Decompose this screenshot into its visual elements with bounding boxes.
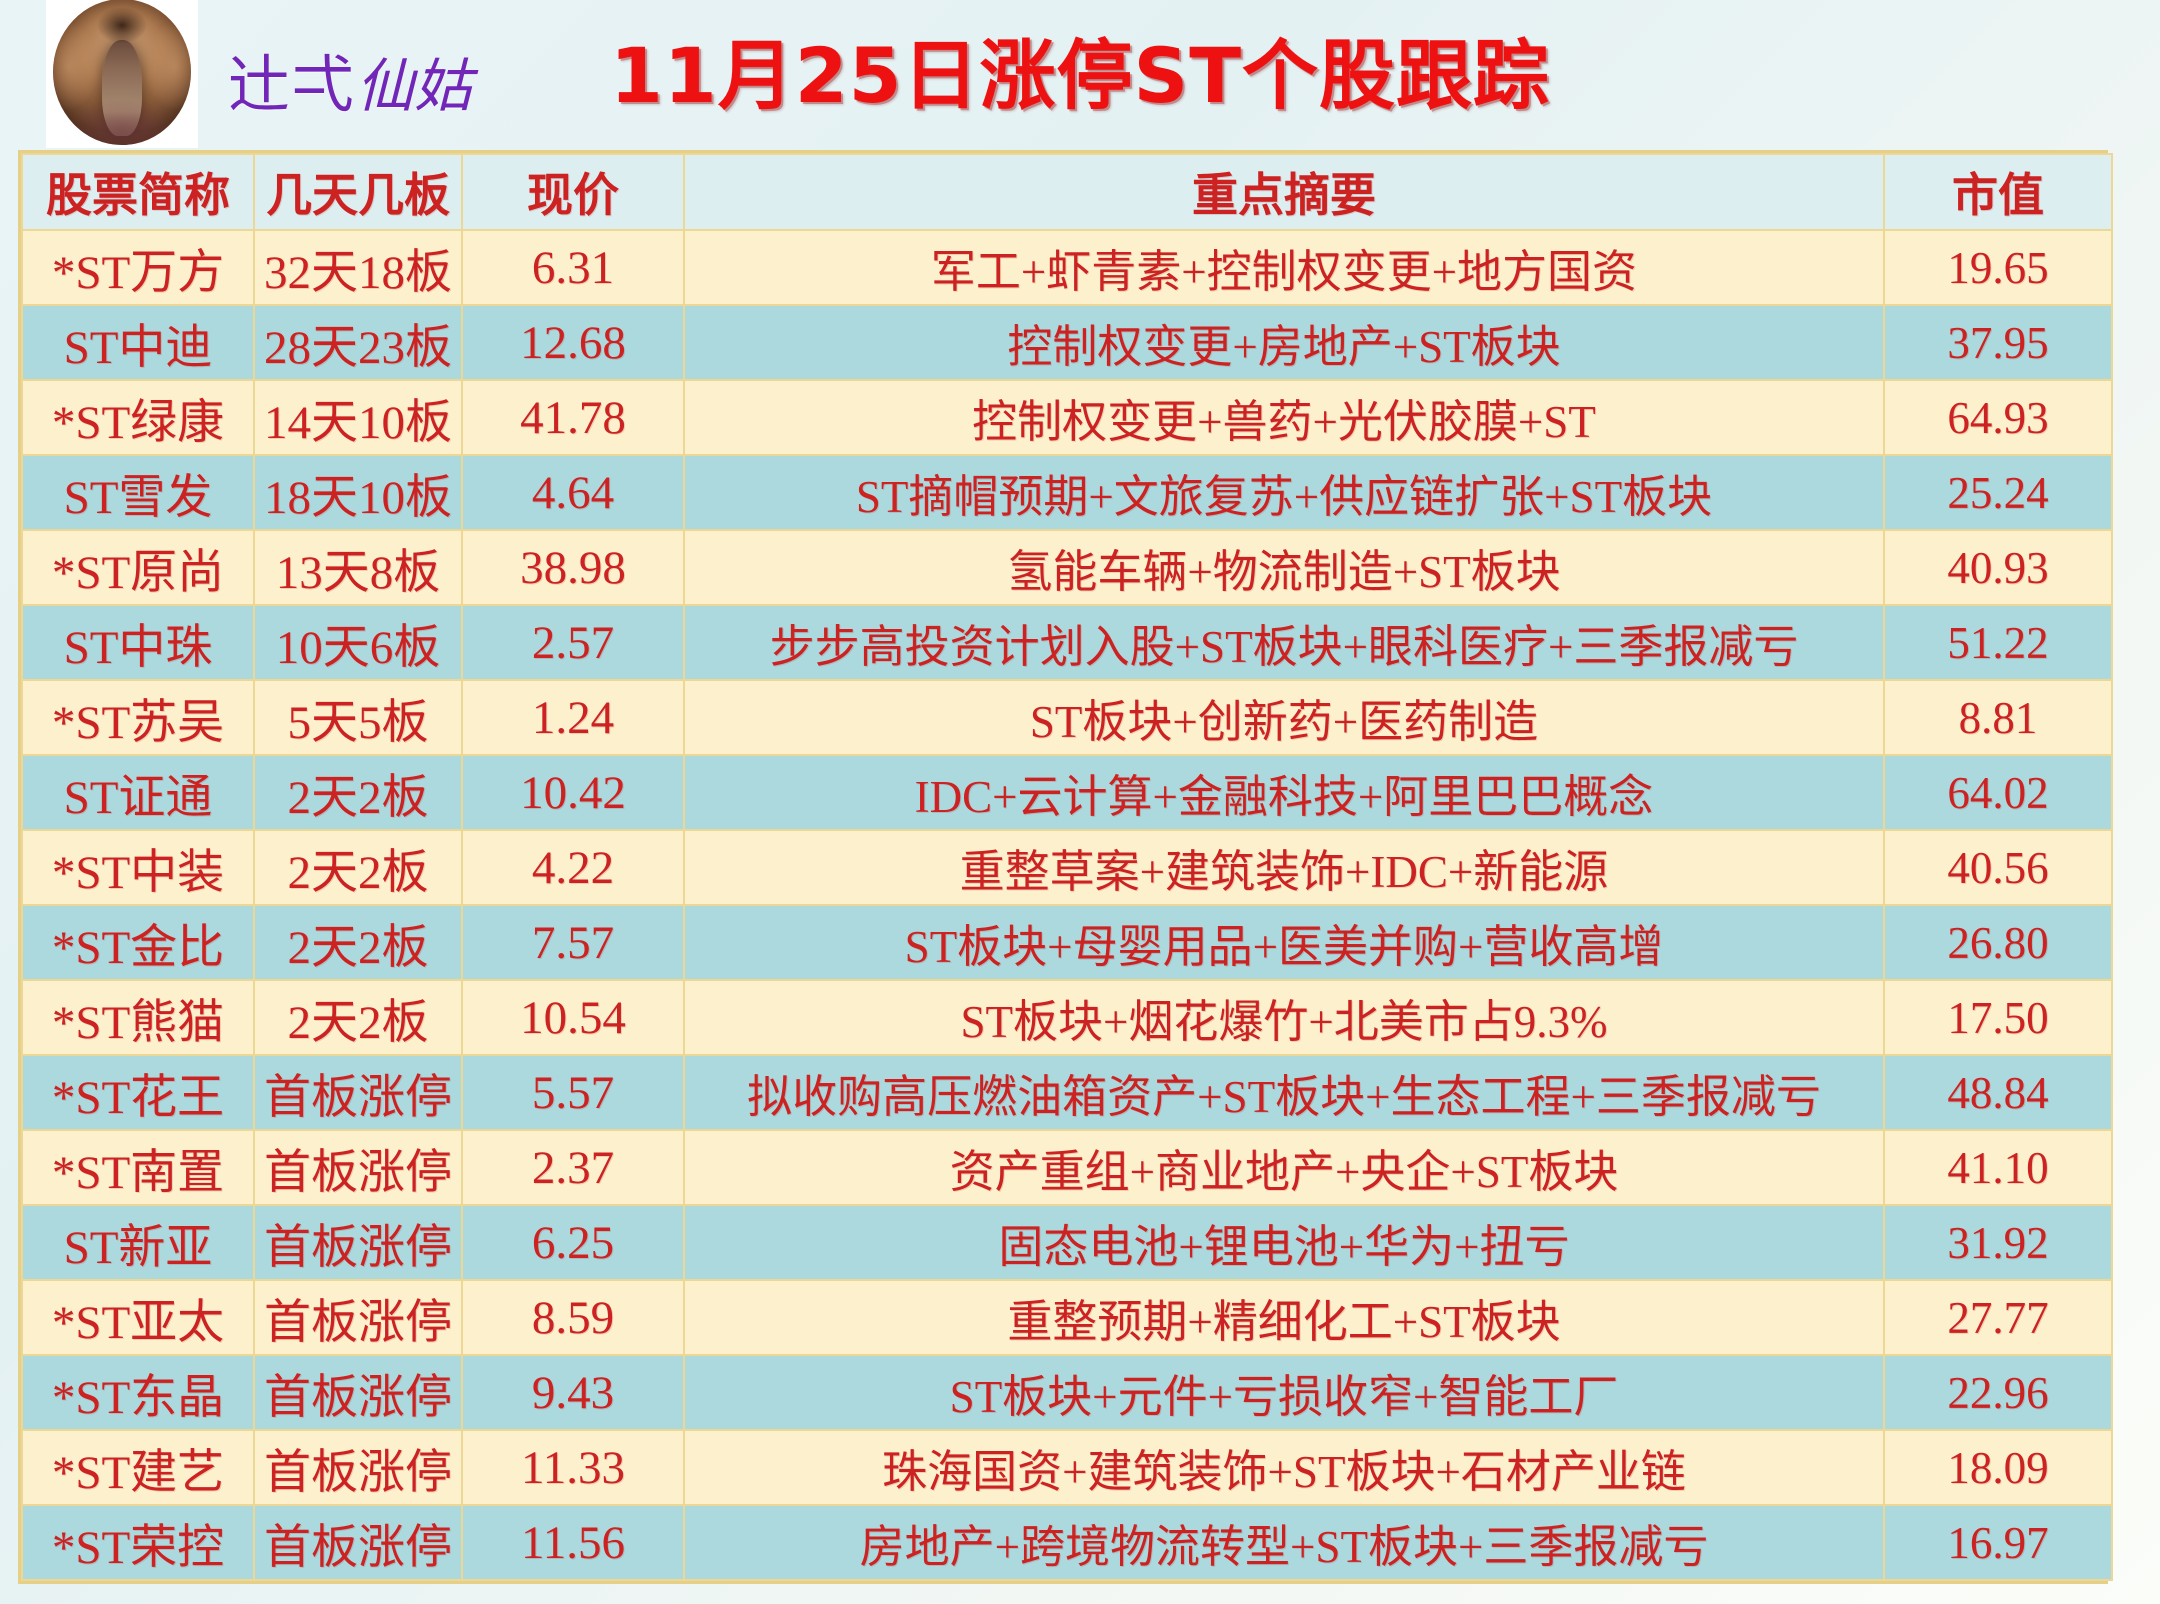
table-row: *ST荣控首板涨停11.56房地产+跨境物流转型+ST板块+三季报减亏16.97: [22, 1505, 2112, 1580]
cell-summary: 重整预期+精细化工+ST板块: [684, 1280, 1884, 1355]
stock-table-container: 股票简称 几天几板 现价 重点摘要 市值 *ST万方32天18板6.31军工+虾…: [18, 150, 2108, 1584]
table-row: *ST原尚13天8板38.98氢能车辆+物流制造+ST板块40.93: [22, 530, 2112, 605]
cell-current-price: 6.25: [462, 1205, 684, 1280]
cell-market-cap: 16.97: [1884, 1505, 2112, 1580]
cell-stock-name: *ST绿康: [22, 380, 254, 455]
cell-boards: 5天5板: [254, 680, 462, 755]
cell-summary: ST摘帽预期+文旅复苏+供应链扩张+ST板块: [684, 455, 1884, 530]
cell-boards: 首板涨停: [254, 1130, 462, 1205]
table-row: *ST绿康14天10板41.78控制权变更+兽药+光伏胶膜+ST64.93: [22, 380, 2112, 455]
cell-boards: 2天2板: [254, 905, 462, 980]
cell-market-cap: 41.10: [1884, 1130, 2112, 1205]
table-row: ST中迪28天23板12.68控制权变更+房地产+ST板块37.95: [22, 305, 2112, 380]
cell-stock-name: *ST熊猫: [22, 980, 254, 1055]
cell-summary: IDC+云计算+金融科技+阿里巴巴概念: [684, 755, 1884, 830]
cell-boards: 14天10板: [254, 380, 462, 455]
cell-stock-name: *ST荣控: [22, 1505, 254, 1580]
cell-boards: 13天8板: [254, 530, 462, 605]
table-row: ST新亚首板涨停6.25固态电池+锂电池+华为+扭亏31.92: [22, 1205, 2112, 1280]
cell-summary: 军工+虾青素+控制权变更+地方国资: [684, 230, 1884, 305]
cell-market-cap: 31.92: [1884, 1205, 2112, 1280]
cell-stock-name: *ST万方: [22, 230, 254, 305]
cell-market-cap: 8.81: [1884, 680, 2112, 755]
cell-boards: 28天23板: [254, 305, 462, 380]
cell-summary: 珠海国资+建筑装饰+ST板块+石材产业链: [684, 1430, 1884, 1505]
cell-boards: 2天2板: [254, 755, 462, 830]
table-header: 股票简称 几天几板 现价 重点摘要 市值: [22, 154, 2112, 230]
cell-market-cap: 27.77: [1884, 1280, 2112, 1355]
cell-summary: 房地产+跨境物流转型+ST板块+三季报减亏: [684, 1505, 1884, 1580]
table-row: *ST熊猫2天2板10.54ST板块+烟花爆竹+北美市占9.3%17.50: [22, 980, 2112, 1055]
cell-stock-name: *ST苏吴: [22, 680, 254, 755]
cell-market-cap: 64.93: [1884, 380, 2112, 455]
page-root: 辻弌仙姑 11月25日涨停ST个股跟踪 股票简称 几天几板 现价 重点摘要 市值…: [0, 0, 2160, 1604]
cell-current-price: 1.24: [462, 680, 684, 755]
cell-stock-name: *ST亚太: [22, 1280, 254, 1355]
cell-market-cap: 40.56: [1884, 830, 2112, 905]
cell-summary: ST板块+烟花爆竹+北美市占9.3%: [684, 980, 1884, 1055]
cell-stock-name: ST证通: [22, 755, 254, 830]
cell-current-price: 12.68: [462, 305, 684, 380]
cell-summary: 资产重组+商业地产+央企+ST板块: [684, 1130, 1884, 1205]
table-row: *ST亚太首板涨停8.59重整预期+精细化工+ST板块27.77: [22, 1280, 2112, 1355]
cell-current-price: 4.22: [462, 830, 684, 905]
cell-stock-name: *ST原尚: [22, 530, 254, 605]
stock-table: 股票简称 几天几板 现价 重点摘要 市值 *ST万方32天18板6.31军工+虾…: [21, 153, 2113, 1581]
cell-current-price: 4.64: [462, 455, 684, 530]
cell-current-price: 5.57: [462, 1055, 684, 1130]
cell-market-cap: 37.95: [1884, 305, 2112, 380]
cell-boards: 32天18板: [254, 230, 462, 305]
table-row: *ST南置首板涨停2.37资产重组+商业地产+央企+ST板块41.10: [22, 1130, 2112, 1205]
cell-stock-name: ST雪发: [22, 455, 254, 530]
cell-market-cap: 19.65: [1884, 230, 2112, 305]
cell-summary: 步步高投资计划入股+ST板块+眼科医疗+三季报减亏: [684, 605, 1884, 680]
cell-stock-name: *ST南置: [22, 1130, 254, 1205]
cell-current-price: 6.31: [462, 230, 684, 305]
cell-market-cap: 64.02: [1884, 755, 2112, 830]
table-row: ST中珠10天6板2.57步步高投资计划入股+ST板块+眼科医疗+三季报减亏51…: [22, 605, 2112, 680]
cell-summary: ST板块+元件+亏损收窄+智能工厂: [684, 1355, 1884, 1430]
cell-market-cap: 22.96: [1884, 1355, 2112, 1430]
cell-boards: 首板涨停: [254, 1355, 462, 1430]
cell-summary: 氢能车辆+物流制造+ST板块: [684, 530, 1884, 605]
table-header-row: 股票简称 几天几板 现价 重点摘要 市值: [22, 154, 2112, 230]
column-header-summary: 重点摘要: [684, 154, 1884, 230]
cell-market-cap: 18.09: [1884, 1430, 2112, 1505]
cell-summary: 拟收购高压燃油箱资产+ST板块+生态工程+三季报减亏: [684, 1055, 1884, 1130]
cell-boards: 首板涨停: [254, 1505, 462, 1580]
column-header-price: 现价: [462, 154, 684, 230]
cell-stock-name: ST中迪: [22, 305, 254, 380]
cell-market-cap: 51.22: [1884, 605, 2112, 680]
column-header-cap: 市值: [1884, 154, 2112, 230]
cell-boards: 10天6板: [254, 605, 462, 680]
cell-stock-name: *ST东晶: [22, 1355, 254, 1430]
column-header-name: 股票简称: [22, 154, 254, 230]
cell-market-cap: 48.84: [1884, 1055, 2112, 1130]
table-body: *ST万方32天18板6.31军工+虾青素+控制权变更+地方国资19.65ST中…: [22, 230, 2112, 1580]
cell-market-cap: 25.24: [1884, 455, 2112, 530]
cell-summary: 重整草案+建筑装饰+IDC+新能源: [684, 830, 1884, 905]
cell-current-price: 10.42: [462, 755, 684, 830]
cell-boards: 18天10板: [254, 455, 462, 530]
table-row: *ST万方32天18板6.31军工+虾青素+控制权变更+地方国资19.65: [22, 230, 2112, 305]
cell-current-price: 7.57: [462, 905, 684, 980]
cell-summary: 控制权变更+房地产+ST板块: [684, 305, 1884, 380]
cell-stock-name: *ST中装: [22, 830, 254, 905]
cell-current-price: 38.98: [462, 530, 684, 605]
cell-market-cap: 40.93: [1884, 530, 2112, 605]
table-row: *ST中装2天2板4.22重整草案+建筑装饰+IDC+新能源40.56: [22, 830, 2112, 905]
cell-market-cap: 17.50: [1884, 980, 2112, 1055]
cell-stock-name: ST中珠: [22, 605, 254, 680]
cell-current-price: 11.33: [462, 1430, 684, 1505]
cell-stock-name: *ST花王: [22, 1055, 254, 1130]
cell-current-price: 10.54: [462, 980, 684, 1055]
table-row: ST证通2天2板10.42IDC+云计算+金融科技+阿里巴巴概念64.02: [22, 755, 2112, 830]
table-row: *ST花王首板涨停5.57拟收购高压燃油箱资产+ST板块+生态工程+三季报减亏4…: [22, 1055, 2112, 1130]
column-header-boards: 几天几板: [254, 154, 462, 230]
cell-boards: 2天2板: [254, 980, 462, 1055]
cell-summary: 控制权变更+兽药+光伏胶膜+ST: [684, 380, 1884, 455]
cell-current-price: 2.37: [462, 1130, 684, 1205]
table-row: *ST金比2天2板7.57ST板块+母婴用品+医美并购+营收高增26.80: [22, 905, 2112, 980]
cell-summary: ST板块+母婴用品+医美并购+营收高增: [684, 905, 1884, 980]
table-row: *ST东晶首板涨停9.43ST板块+元件+亏损收窄+智能工厂22.96: [22, 1355, 2112, 1430]
cell-stock-name: ST新亚: [22, 1205, 254, 1280]
page-title: 11月25日涨停ST个股跟踪: [0, 14, 2160, 124]
cell-boards: 首板涨停: [254, 1055, 462, 1130]
cell-current-price: 41.78: [462, 380, 684, 455]
cell-stock-name: *ST建艺: [22, 1430, 254, 1505]
header-band: 辻弌仙姑 11月25日涨停ST个股跟踪: [0, 0, 2160, 148]
cell-summary: ST板块+创新药+医药制造: [684, 680, 1884, 755]
cell-current-price: 9.43: [462, 1355, 684, 1430]
table-row: *ST建艺首板涨停11.33珠海国资+建筑装饰+ST板块+石材产业链18.09: [22, 1430, 2112, 1505]
cell-summary: 固态电池+锂电池+华为+扭亏: [684, 1205, 1884, 1280]
cell-boards: 首板涨停: [254, 1280, 462, 1355]
cell-boards: 首板涨停: [254, 1430, 462, 1505]
table-row: ST雪发18天10板4.64ST摘帽预期+文旅复苏+供应链扩张+ST板块25.2…: [22, 455, 2112, 530]
table-row: *ST苏吴5天5板1.24ST板块+创新药+医药制造8.81: [22, 680, 2112, 755]
cell-current-price: 8.59: [462, 1280, 684, 1355]
cell-boards: 2天2板: [254, 830, 462, 905]
cell-boards: 首板涨停: [254, 1205, 462, 1280]
cell-current-price: 11.56: [462, 1505, 684, 1580]
cell-current-price: 2.57: [462, 605, 684, 680]
cell-stock-name: *ST金比: [22, 905, 254, 980]
cell-market-cap: 26.80: [1884, 905, 2112, 980]
